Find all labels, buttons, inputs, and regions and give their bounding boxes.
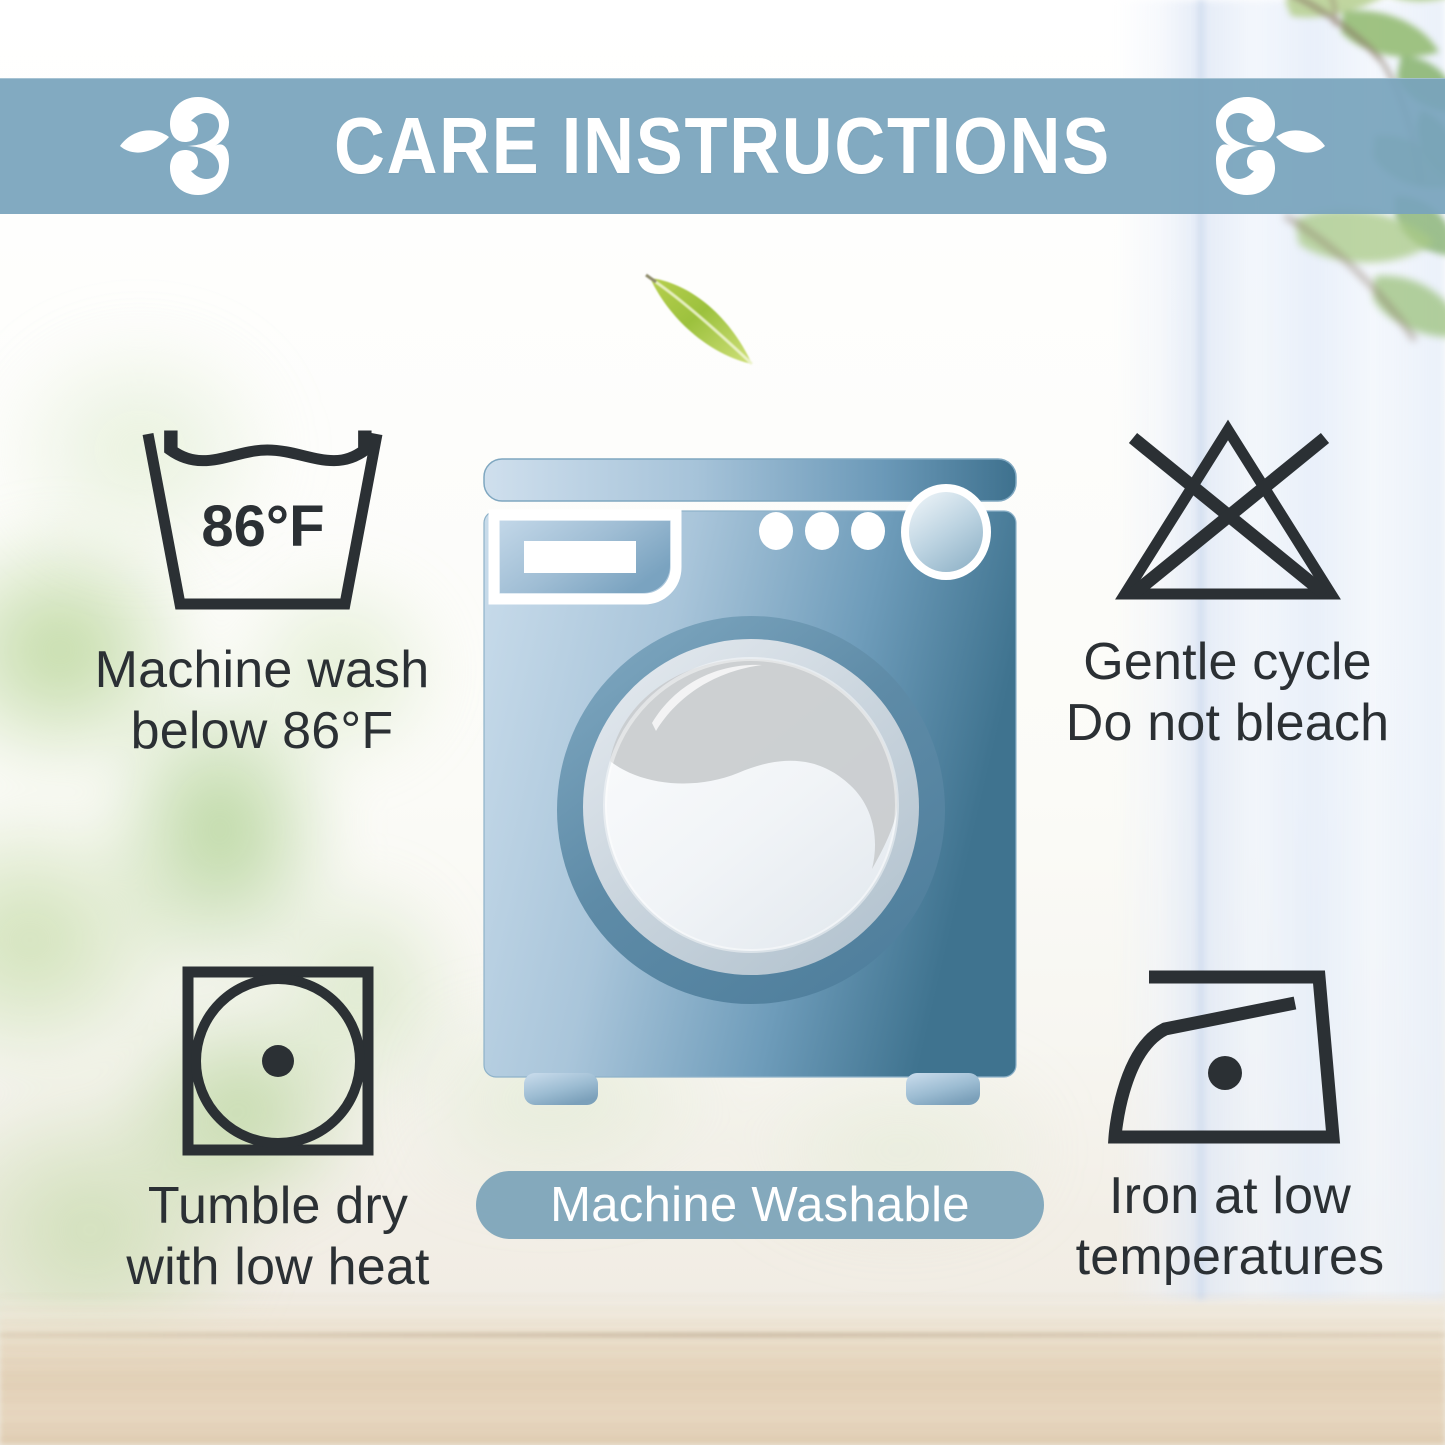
care-instructions-poster: CARE INSTRUCTIONS 86°F Mac — [0, 0, 1445, 1445]
background-table-edge — [0, 1333, 1445, 1337]
wash-temperature-label: 86°F — [201, 494, 324, 559]
care-item-machine-wash: 86°F Machine wash below 86°F — [32, 424, 492, 762]
machine-foot-right — [906, 1073, 980, 1105]
wash-tub-icon: 86°F — [135, 424, 390, 624]
care-item-label: Tumble dry with low heat — [126, 1176, 429, 1298]
care-item-label: Iron at low temperatures — [1076, 1166, 1385, 1288]
fleur-de-lis-icon — [1210, 91, 1330, 201]
detergent-drawer — [494, 515, 676, 599]
iron-one-dot-icon — [1105, 965, 1355, 1150]
badge-label: Machine Washable — [550, 1181, 970, 1230]
background-table-grain — [0, 1295, 1445, 1445]
machine-washable-badge: Machine Washable — [476, 1171, 1044, 1239]
triangle-crossed-icon — [1103, 416, 1353, 616]
care-item-label: Gentle cycle Do not bleach — [1066, 632, 1390, 754]
care-item-do-not-bleach: Gentle cycle Do not bleach — [1000, 416, 1445, 754]
control-indicator-dots — [759, 512, 885, 550]
tumble-dry-square-circle-one-dot-icon — [176, 960, 381, 1160]
page-title: CARE INSTRUCTIONS — [334, 106, 1111, 186]
green-leaf-icon — [642, 272, 762, 370]
header-banner: CARE INSTRUCTIONS — [0, 78, 1445, 214]
machine-foot-left — [524, 1073, 598, 1105]
machine-door — [557, 616, 945, 1004]
care-item-tumble-dry: Tumble dry with low heat — [58, 960, 498, 1298]
washing-machine-illustration — [480, 455, 1020, 1123]
care-item-iron-low: Iron at low temperatures — [1010, 965, 1445, 1288]
fleur-de-lis-icon — [115, 91, 235, 201]
control-knob — [901, 484, 991, 580]
care-item-label: Machine wash below 86°F — [95, 640, 430, 762]
